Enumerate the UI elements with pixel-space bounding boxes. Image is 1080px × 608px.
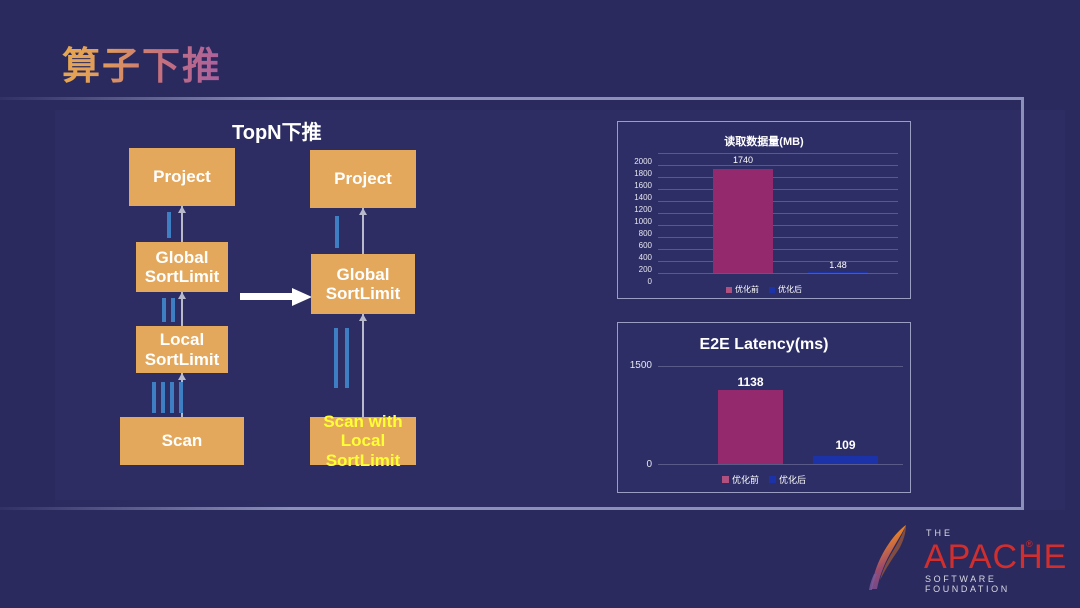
tick-right-group-2-bar-2	[345, 328, 349, 388]
node-left-global-sortlimit[interactable]: Global SortLimit	[136, 242, 228, 292]
chart-1-ytick-200: 200	[620, 265, 652, 274]
chart-1-plot	[658, 153, 898, 273]
chart-1-ytick-2000: 2000	[620, 157, 652, 166]
logo-the-text: THE	[926, 528, 953, 538]
chart-2-value-label-after: 109	[813, 438, 878, 452]
logo-apache-text: APACHE	[924, 538, 1067, 577]
chart-1-value-label-after: 1.48	[808, 260, 868, 270]
chart-1-ytick-600: 600	[620, 241, 652, 250]
tick-left-group-3-bar-3	[170, 382, 174, 413]
chart-1-legend-swatch-after	[769, 287, 775, 293]
chart-1-ytick-1600: 1600	[620, 181, 652, 190]
node-right-global-sortlimit[interactable]: Global SortLimit	[311, 254, 415, 314]
chart-1-legend-item-after: 优化后	[769, 284, 802, 295]
chart-1-legend-swatch-before	[726, 287, 732, 293]
tick-left-group-3-bar-4	[179, 382, 183, 413]
chart-1-legend: 优化前 优化后	[618, 284, 910, 295]
chart-2-legend: 优化前 优化后	[618, 473, 910, 486]
node-left-project[interactable]: Project	[129, 148, 235, 206]
node-left-local-sortlimit[interactable]: Local SortLimit	[136, 326, 228, 373]
tick-right-group-2-bar-1	[334, 328, 338, 388]
node-right-scan-with-local-sortlimit[interactable]: Scan with Local SortLimit	[310, 417, 416, 465]
logo-software-foundation-text: SOFTWARE FOUNDATION	[925, 574, 1046, 594]
chart-2-ytick-0: 0	[620, 459, 652, 470]
connector-left-1	[181, 206, 183, 242]
diagram-title: TopN下推	[232, 116, 322, 145]
apache-feather-icon	[866, 522, 922, 592]
tick-left-group-1-bar-1	[167, 212, 171, 238]
connector-right-1	[362, 208, 364, 254]
apache-software-foundation-logo: THE APACHE ® SOFTWARE FOUNDATION	[866, 522, 1046, 592]
chart-2-title: E2E Latency(ms)	[618, 336, 910, 354]
chart-read-data-volume: 读取数据量(MB) 0 200 400 600 800 1000 1200 14…	[617, 121, 911, 299]
node-left-scan[interactable]: Scan	[120, 417, 244, 465]
chart-e2e-latency: E2E Latency(ms) 0 1500 1138 109 优化前 优化后	[617, 322, 911, 493]
chart-1-ytick-1800: 1800	[620, 169, 652, 178]
chart-2-ytick-1500: 1500	[620, 360, 652, 371]
tick-left-group-3-bar-1	[152, 382, 156, 413]
chart-2-legend-swatch-after	[769, 476, 776, 483]
chart-2-bar-before	[718, 390, 783, 464]
chart-1-value-label-before: 1740	[713, 155, 773, 165]
chart-2-legend-item-before: 优化前	[722, 473, 759, 486]
connector-right-2	[362, 314, 364, 417]
chart-1-ytick-1200: 1200	[620, 205, 652, 214]
logo-registered-mark: ®	[1026, 539, 1033, 549]
connector-left-2	[181, 292, 183, 326]
chart-1-ytick-800: 800	[620, 229, 652, 238]
chart-1-bar-before	[713, 169, 773, 273]
chart-2-bar-after	[813, 456, 878, 464]
chart-1-title: 读取数据量(MB)	[618, 133, 910, 149]
tick-left-group-3-bar-2	[161, 382, 165, 413]
chart-1-ytick-1400: 1400	[620, 193, 652, 202]
chart-1-legend-label-after: 优化后	[778, 284, 802, 295]
chart-2-value-label-before: 1138	[718, 375, 783, 389]
slide-root: 算子下推 TopN下推 Project Global SortLimit Loc…	[0, 0, 1080, 608]
chart-1-ytick-1000: 1000	[620, 217, 652, 226]
chart-1-legend-label-before: 优化前	[735, 284, 759, 295]
tick-left-group-2-bar-1	[162, 298, 166, 322]
tick-left-group-2-bar-2	[171, 298, 175, 322]
chart-1-ytick-400: 400	[620, 253, 652, 262]
chart-2-legend-item-after: 优化后	[769, 473, 806, 486]
chart-2-legend-label-after: 优化后	[779, 473, 806, 486]
chart-1-legend-item-before: 优化前	[726, 284, 759, 295]
chart-2-legend-swatch-before	[722, 476, 729, 483]
node-right-project[interactable]: Project	[310, 150, 416, 208]
chart-1-bar-after	[808, 272, 868, 273]
transform-arrow-icon	[240, 288, 312, 304]
chart-2-legend-label-before: 优化前	[732, 473, 759, 486]
tick-right-group-1-bar-1	[335, 216, 339, 248]
topn-pushdown-diagram: TopN下推 Project Global SortLimit Local So…	[0, 0, 600, 608]
